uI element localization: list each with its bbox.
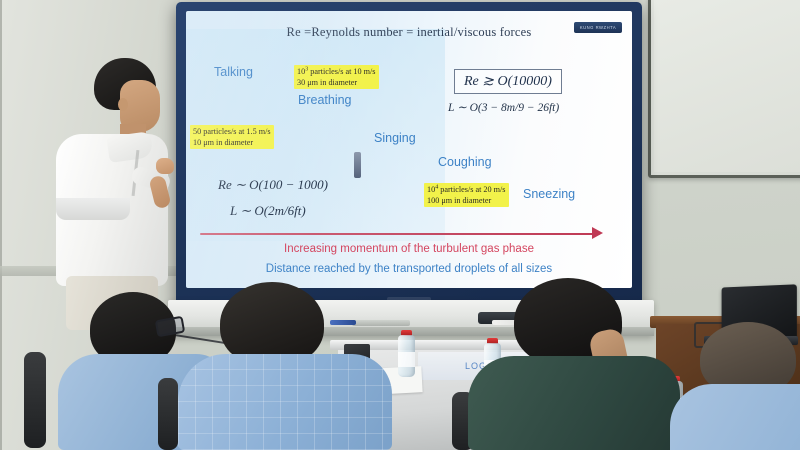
formula-right-length: L ∼ O(3 − 8m/9 − 26ft): [448, 100, 559, 114]
attendee-shirt: [670, 384, 800, 450]
annotation-line1: 103 particles/s at 10 m/s: [297, 67, 376, 76]
slide-title: Re =Reynolds number = inertial/viscous f…: [186, 25, 632, 40]
formula-left-length: L ∼ O(2m/6ft): [230, 203, 306, 219]
annotation-coughing: 104 particles/s at 20 m/s 100 μm in diam…: [424, 183, 509, 207]
presenter-sleeve: [56, 198, 130, 220]
annotation-line2: 100 μm in diameter: [427, 196, 491, 205]
bottle-label: [398, 352, 415, 367]
attendee-center: [186, 282, 382, 450]
annotation-line1: 104 particles/s at 20 m/s: [427, 185, 506, 194]
presentation-display[interactable]: Re =Reynolds number = inertial/viscous f…: [176, 2, 642, 310]
whiteboard-surface: [654, 0, 800, 172]
display-side-button[interactable]: [354, 152, 361, 178]
caption-distance-reached: Distance reached by the transported drop…: [186, 263, 632, 275]
annotation-breathing: 50 particles/s at 1.5 m/s 10 μm in diame…: [190, 125, 274, 149]
mode-label-talking: Talking: [214, 65, 253, 79]
wall-seam: [0, 0, 2, 450]
whiteboard: [648, 0, 800, 178]
chair-center: [158, 378, 178, 450]
momentum-arrow-line: [200, 233, 600, 235]
annotation-line1: 50 particles/s at 1.5 m/s: [193, 127, 271, 136]
annotation-line2: 30 μm in diameter: [297, 78, 357, 87]
chair-left: [24, 352, 46, 448]
presenter-hand-pointing: [156, 158, 174, 174]
attendee-far-right: [694, 322, 800, 450]
slide-watermark-badge: KUNG RWZHTA: [574, 22, 622, 33]
glasses-icon: [155, 316, 186, 338]
momentum-arrow-head: [592, 227, 603, 239]
attendee-right-green: [474, 278, 682, 450]
annotation-talking: 103 particles/s at 10 m/s 30 μm in diame…: [294, 65, 379, 89]
formula-left-reynolds: Re ∼ O(100 − 1000): [218, 177, 328, 193]
attendee-shirt-checked: [178, 354, 392, 450]
annotation-line2: 10 μm in diameter: [193, 138, 253, 147]
display-panel: Re =Reynolds number = inertial/viscous f…: [186, 11, 632, 288]
presenter: [46, 58, 174, 326]
attendee-shirt-green: [468, 356, 680, 450]
mode-label-coughing: Coughing: [438, 155, 492, 169]
mode-label-breathing: Breathing: [298, 93, 352, 107]
mode-label-sneezing: Sneezing: [523, 187, 575, 201]
screenshot-scene: Re =Reynolds number = inertial/viscous f…: [0, 0, 800, 450]
slide-canvas: Re =Reynolds number = inertial/viscous f…: [186, 11, 632, 288]
formula-boxed-reynolds: Re ≳ O(10000): [454, 69, 562, 94]
caption-increasing-momentum: Increasing momentum of the turbulent gas…: [186, 243, 632, 255]
mode-label-singing: Singing: [374, 131, 416, 145]
presenter-ear: [118, 98, 128, 111]
